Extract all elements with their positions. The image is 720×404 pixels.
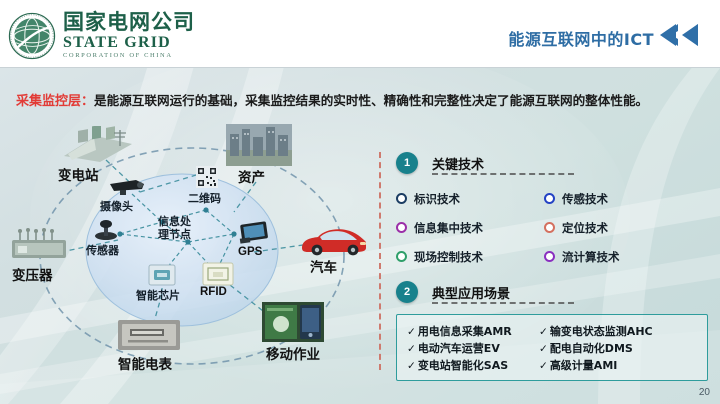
gps-device-icon: [236, 220, 272, 246]
section-1-underline: [432, 173, 574, 175]
tech-item[interactable]: 现场控制技术: [396, 249, 544, 265]
diagram-label-sensor: 传感器: [86, 242, 119, 258]
check-icon: ✓: [539, 360, 548, 372]
scenario-item[interactable]: ✓ 电动汽车运营EV: [407, 340, 539, 356]
diagram-label-car: 汽车: [310, 256, 337, 276]
sensor-icon: [92, 218, 120, 242]
tech-label: 流计算技术: [562, 249, 620, 265]
scenario-item[interactable]: ✓ 输变电状态监测AHC: [539, 323, 679, 339]
tech-label: 信息集中技术: [414, 220, 483, 236]
diagram-label-processing-node: 信息处 理节点: [158, 216, 191, 241]
diagram-label-smart-meter: 智能电表: [118, 353, 172, 373]
diagram-label-qr-code: 二维码: [188, 190, 221, 206]
panel-divider: [379, 152, 381, 370]
tech-label: 定位技术: [562, 220, 608, 236]
scenario-label: 用电信息采集AMR: [418, 323, 512, 339]
key-technologies-grid: 标识技术 传感技术 信息集中技术 定位技术 现场控制技术 流计算技术: [396, 184, 708, 271]
smart-meter-photo-icon: [116, 318, 182, 352]
smart-chip-icon: [148, 264, 176, 286]
diagram-label-smart-chip: 智能芯片: [136, 287, 180, 303]
scenario-label: 配电自动化DMS: [550, 340, 633, 356]
check-icon: ✓: [539, 326, 548, 338]
check-icon: ✓: [539, 343, 548, 355]
check-icon: ✓: [407, 326, 416, 338]
diagram-label-gps: GPS: [238, 246, 262, 258]
slide: 国家电网公司 STATE GRID CORPORATION OF CHINA 能…: [0, 0, 720, 404]
tech-item[interactable]: 定位技术: [544, 220, 694, 236]
section-2-underline: [432, 302, 574, 304]
section-1-header: 1 关键技术: [396, 152, 708, 178]
bullet-ring-icon: [396, 193, 407, 204]
tech-label: 传感技术: [562, 191, 608, 207]
rfid-tag-icon: [202, 262, 234, 286]
camera-icon: [106, 176, 148, 196]
tech-label: 现场控制技术: [414, 249, 483, 265]
slide-header: 国家电网公司 STATE GRID CORPORATION OF CHINA 能…: [0, 0, 720, 68]
energy-internet-diagram: 变电站 资产: [10, 122, 378, 390]
transformer-photo-icon: [8, 228, 70, 262]
page-number: 20: [699, 387, 710, 398]
double-chevron-left-icon: [658, 24, 704, 46]
tech-label: 标识技术: [414, 191, 460, 207]
page-title: 能源互联网中的ICT: [508, 26, 654, 50]
bullet-ring-icon: [544, 222, 555, 233]
scenario-item[interactable]: ✓ 配电自动化DMS: [539, 340, 679, 356]
header-divider: [0, 67, 720, 68]
diagram-label-assets: 资产: [238, 166, 265, 186]
diagram-label-mobile-operations: 移动作业: [266, 343, 320, 363]
check-icon: ✓: [407, 360, 416, 372]
logo-subtitle: CORPORATION OF CHINA: [63, 53, 195, 60]
section-banner: 采集监控层： 是能源互联网运行的基础，采集监控结果的实时性、精确性和完整性决定了…: [0, 87, 720, 111]
diagram-label-camera: 摄像头: [100, 198, 133, 214]
tech-item[interactable]: 信息集中技术: [396, 220, 544, 236]
section-2-header: 2 典型应用场景: [396, 281, 708, 307]
tech-item[interactable]: 流计算技术: [544, 249, 694, 265]
scenario-item[interactable]: ✓ 变电站智能化SAS: [407, 357, 539, 373]
section-1-badge: 1: [396, 152, 418, 174]
processing-node-line1: 信息处: [158, 216, 191, 229]
scenario-label: 输变电状态监测AHC: [550, 323, 653, 339]
scenario-item[interactable]: ✓ 高级计量AMI: [539, 357, 679, 373]
brand-logo: 国家电网公司 STATE GRID CORPORATION OF CHINA: [8, 12, 195, 60]
logo-english-name: STATE GRID: [63, 35, 195, 51]
right-panel: 1 关键技术 标识技术 传感技术 信息集中技术 定位技术: [396, 152, 708, 382]
banner-text: 是能源互联网运行的基础，采集监控结果的实时性、精确性和完整性决定了能源互联网的整…: [94, 90, 648, 109]
check-icon: ✓: [407, 343, 416, 355]
tech-item[interactable]: 传感技术: [544, 191, 694, 207]
diagram-label-substation: 变电站: [58, 164, 99, 184]
diagram-label-rfid: RFID: [200, 286, 227, 298]
section-2-title: 典型应用场景: [432, 283, 510, 302]
assets-city-photo-icon: [226, 124, 292, 166]
red-car-photo-icon: [298, 222, 370, 256]
banner-highlight: 采集监控层：: [16, 90, 94, 109]
bullet-ring-icon: [544, 251, 555, 262]
diagram-label-transformer: 变压器: [12, 264, 53, 284]
qr-code-icon: [196, 166, 218, 188]
application-scenarios-box: ✓ 用电信息采集AMR ✓ 输变电状态监测AHC ✓ 电动汽车运营EV ✓ 配电…: [396, 314, 708, 381]
bullet-ring-icon: [396, 251, 407, 262]
state-grid-globe-emblem-icon: [8, 12, 56, 60]
tech-item[interactable]: 标识技术: [396, 191, 544, 207]
logo-chinese-name: 国家电网公司: [63, 12, 195, 33]
substation-photo-icon: [60, 126, 136, 164]
scenario-label: 电动汽车运营EV: [418, 340, 500, 356]
mobile-terminal-photo-icon: [262, 302, 324, 342]
processing-node-line2: 理节点: [158, 229, 191, 242]
bullet-ring-icon: [396, 222, 407, 233]
scenario-item[interactable]: ✓ 用电信息采集AMR: [407, 323, 539, 339]
section-1-title: 关键技术: [432, 154, 484, 173]
scenario-label: 变电站智能化SAS: [418, 357, 508, 373]
section-2-badge: 2: [396, 281, 418, 303]
scenario-label: 高级计量AMI: [550, 357, 618, 373]
bullet-ring-icon: [544, 193, 555, 204]
